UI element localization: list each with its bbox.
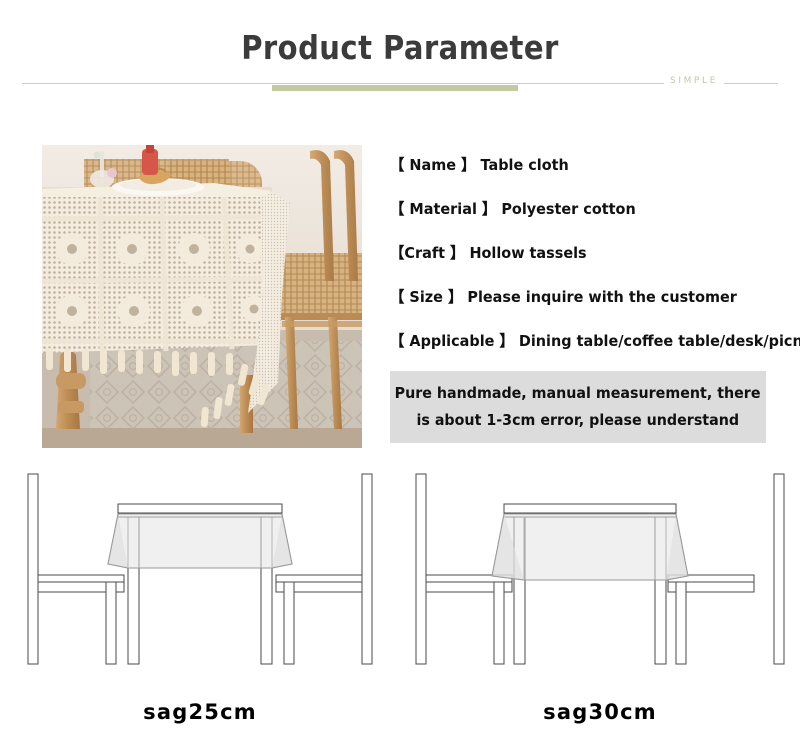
spec-row-size: 【 Size 】 Please inquire with the custome… bbox=[390, 284, 771, 328]
drape-diagram-sag25 bbox=[0, 462, 400, 682]
spec-value: Dining table/coffee table/desk/picnic, e… bbox=[519, 332, 800, 350]
spec-row-material: 【 Material 】 Polyester cotton bbox=[390, 196, 771, 240]
diagram-caption-sag30: sag30cm bbox=[400, 700, 800, 724]
spec-value: Hollow tassels bbox=[469, 244, 586, 262]
spec-value: Polyester cotton bbox=[501, 200, 635, 218]
measurement-note-box: Pure handmade, manual measurement, there… bbox=[390, 371, 766, 443]
drape-diagram-sag30 bbox=[400, 462, 800, 682]
header-accent-bar bbox=[272, 85, 518, 91]
spec-key: 【 Material 】 bbox=[390, 200, 496, 218]
diagram-caption-sag25: sag25cm bbox=[0, 700, 400, 724]
spec-value: Please inquire with the customer bbox=[467, 288, 736, 306]
spec-row-craft: 【Craft 】 Hollow tassels bbox=[390, 240, 771, 284]
product-photo bbox=[42, 145, 362, 448]
spec-row-applicable: 【 Applicable 】 Dining table/coffee table… bbox=[390, 328, 771, 372]
spec-key: 【 Size 】 bbox=[390, 288, 462, 306]
spec-key: 【 Applicable 】 bbox=[390, 332, 514, 350]
note-line: Pure handmade, manual measurement, there bbox=[395, 380, 761, 407]
spec-row-name: 【 Name 】 Table cloth bbox=[390, 152, 771, 196]
spec-value: Table cloth bbox=[480, 156, 568, 174]
note-line: is about 1-3cm error, please understand bbox=[417, 407, 740, 434]
spec-list: 【 Name 】 Table cloth 【 Material 】 Polyes… bbox=[390, 152, 800, 372]
header-divider-label: SIMPLE bbox=[664, 76, 724, 86]
page-title: Product Parameter bbox=[48, 28, 752, 67]
spec-key: 【 Name 】 bbox=[390, 156, 475, 174]
spec-key: 【Craft 】 bbox=[390, 244, 464, 262]
